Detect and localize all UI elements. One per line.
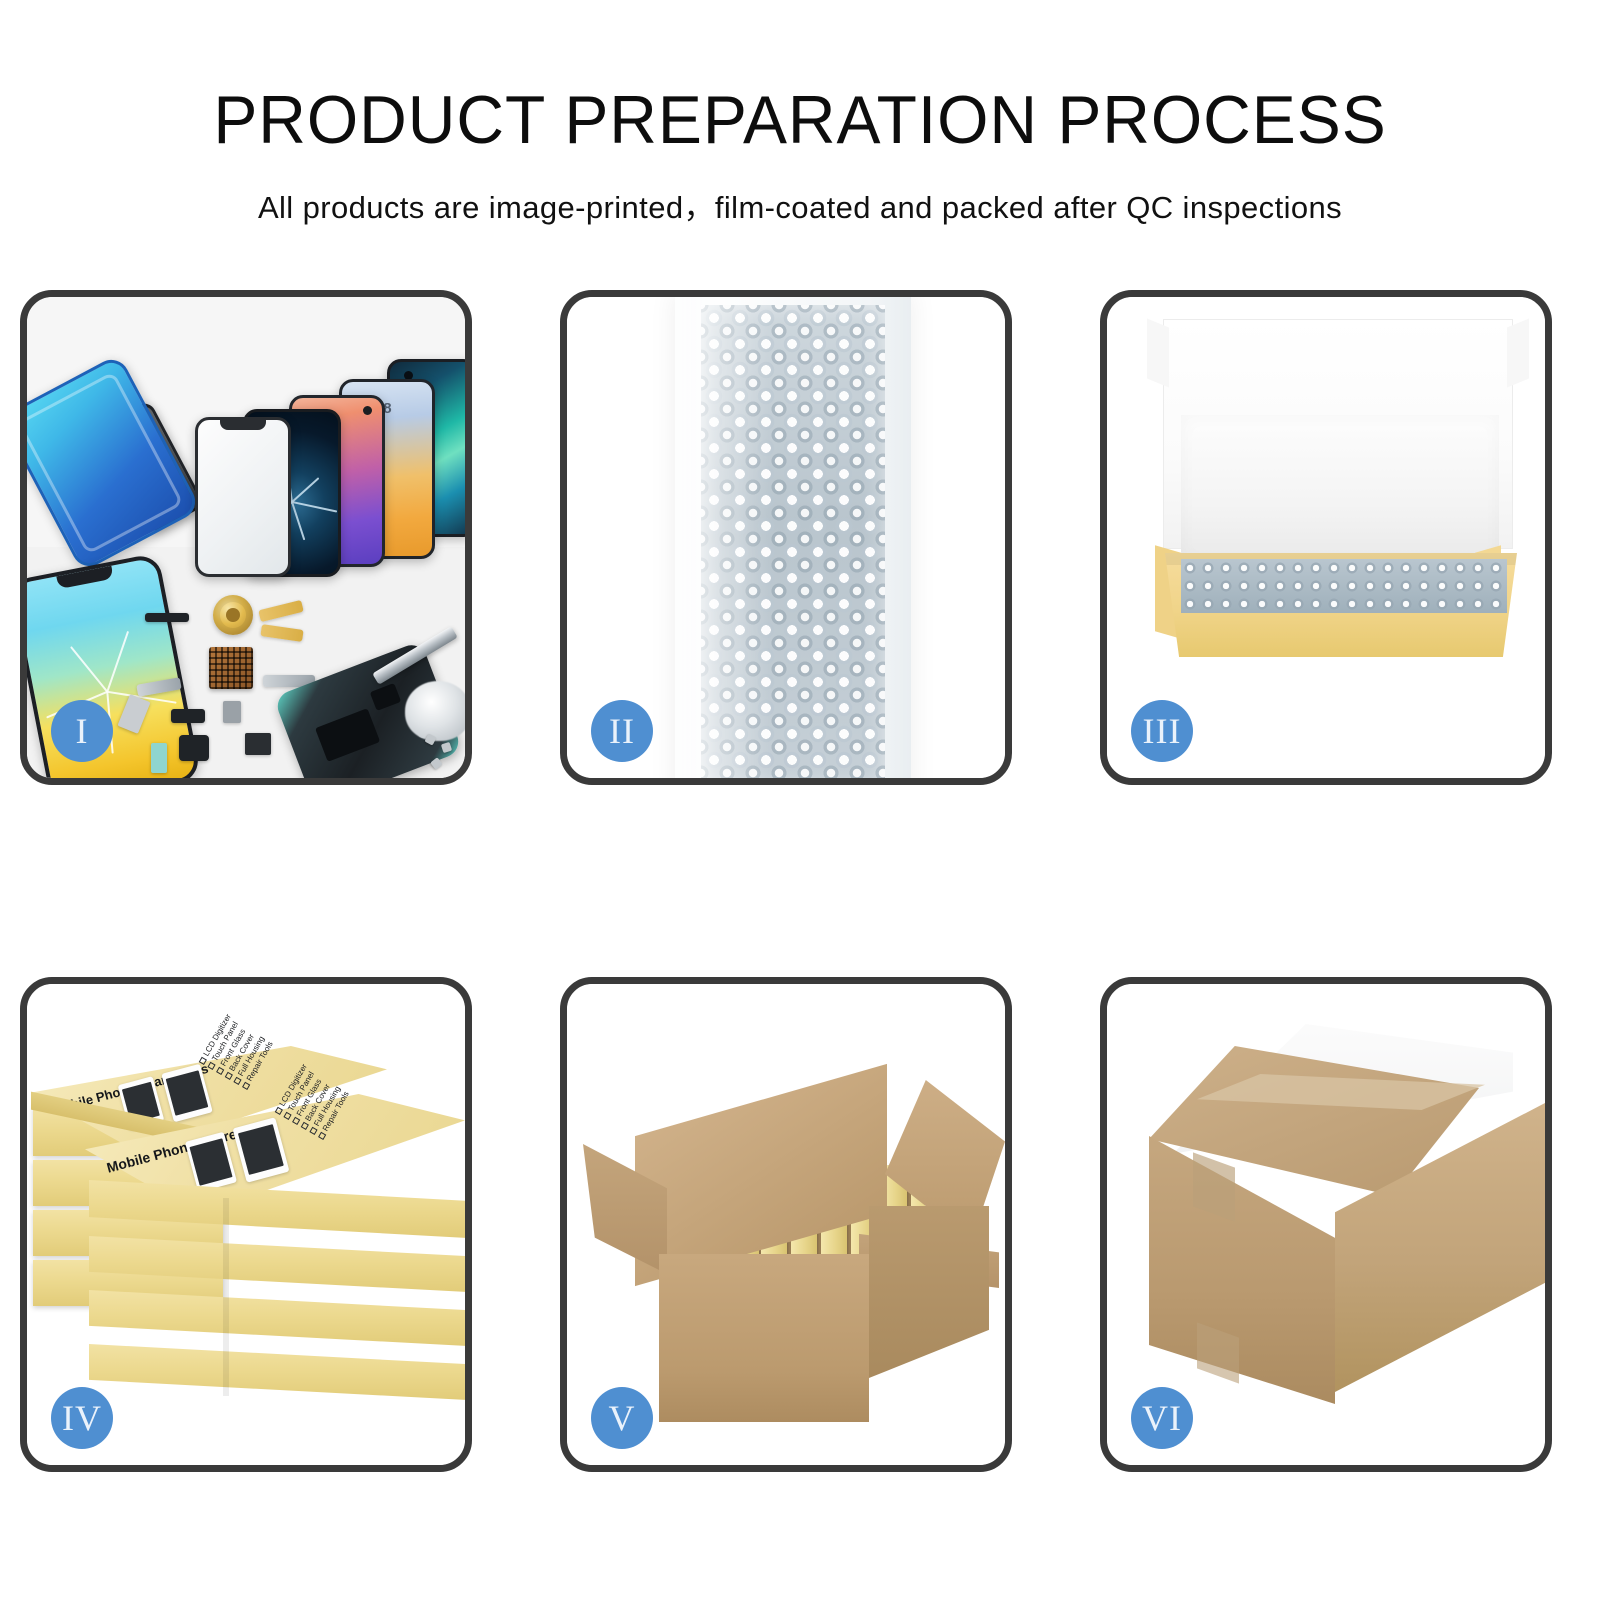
sim-tray <box>151 743 167 773</box>
cleaning-brush <box>405 681 465 741</box>
bubble-wrapped-product <box>1181 559 1507 613</box>
earpiece-speaker <box>145 613 189 622</box>
ic-chip-grid <box>209 647 253 689</box>
step-badge-5: V <box>591 1387 653 1449</box>
step-badge-4: IV <box>51 1387 113 1449</box>
step-badge-1: I <box>51 700 113 762</box>
retail-box-front-3 <box>89 1290 465 1346</box>
process-step-grid: 08 08 <box>0 0 1600 1600</box>
retail-box-edge-shadow <box>223 1198 229 1396</box>
carton-front-face <box>1149 1136 1335 1404</box>
retail-box-front-4 <box>89 1344 465 1400</box>
mailer-box-foam-insert <box>1181 415 1499 563</box>
crack-lines <box>292 501 293 502</box>
process-step-card-4[interactable]: Mobile Phone Spare Parts LCD Digitizer T… <box>20 977 472 1472</box>
step-badge-2: II <box>591 700 653 762</box>
process-step-card-5[interactable]: V <box>560 977 1012 1472</box>
plastic-sheen <box>675 297 769 778</box>
bubble-wrap-pouch <box>675 297 911 778</box>
carton-front-face <box>659 1254 869 1422</box>
front-glass-clear <box>195 417 291 577</box>
small-part-3 <box>179 735 209 761</box>
process-step-card-6[interactable]: VI <box>1100 977 1552 1472</box>
carton-side-face <box>869 1206 989 1378</box>
small-part-2 <box>171 709 205 723</box>
process-step-card-3[interactable]: III <box>1100 290 1552 785</box>
wireless-charging-coil <box>213 595 253 635</box>
step-badge-3: III <box>1131 700 1193 762</box>
poster-root: PRODUCT PREPARATION PROCESS All products… <box>0 0 1600 1600</box>
small-part-5 <box>245 733 271 755</box>
process-step-card-1[interactable]: 08 08 <box>20 290 472 785</box>
small-part-4 <box>223 701 241 723</box>
process-step-card-2[interactable]: II <box>560 290 1012 785</box>
adhesive-frame-blue <box>27 354 201 573</box>
step-badge-6: VI <box>1131 1387 1193 1449</box>
